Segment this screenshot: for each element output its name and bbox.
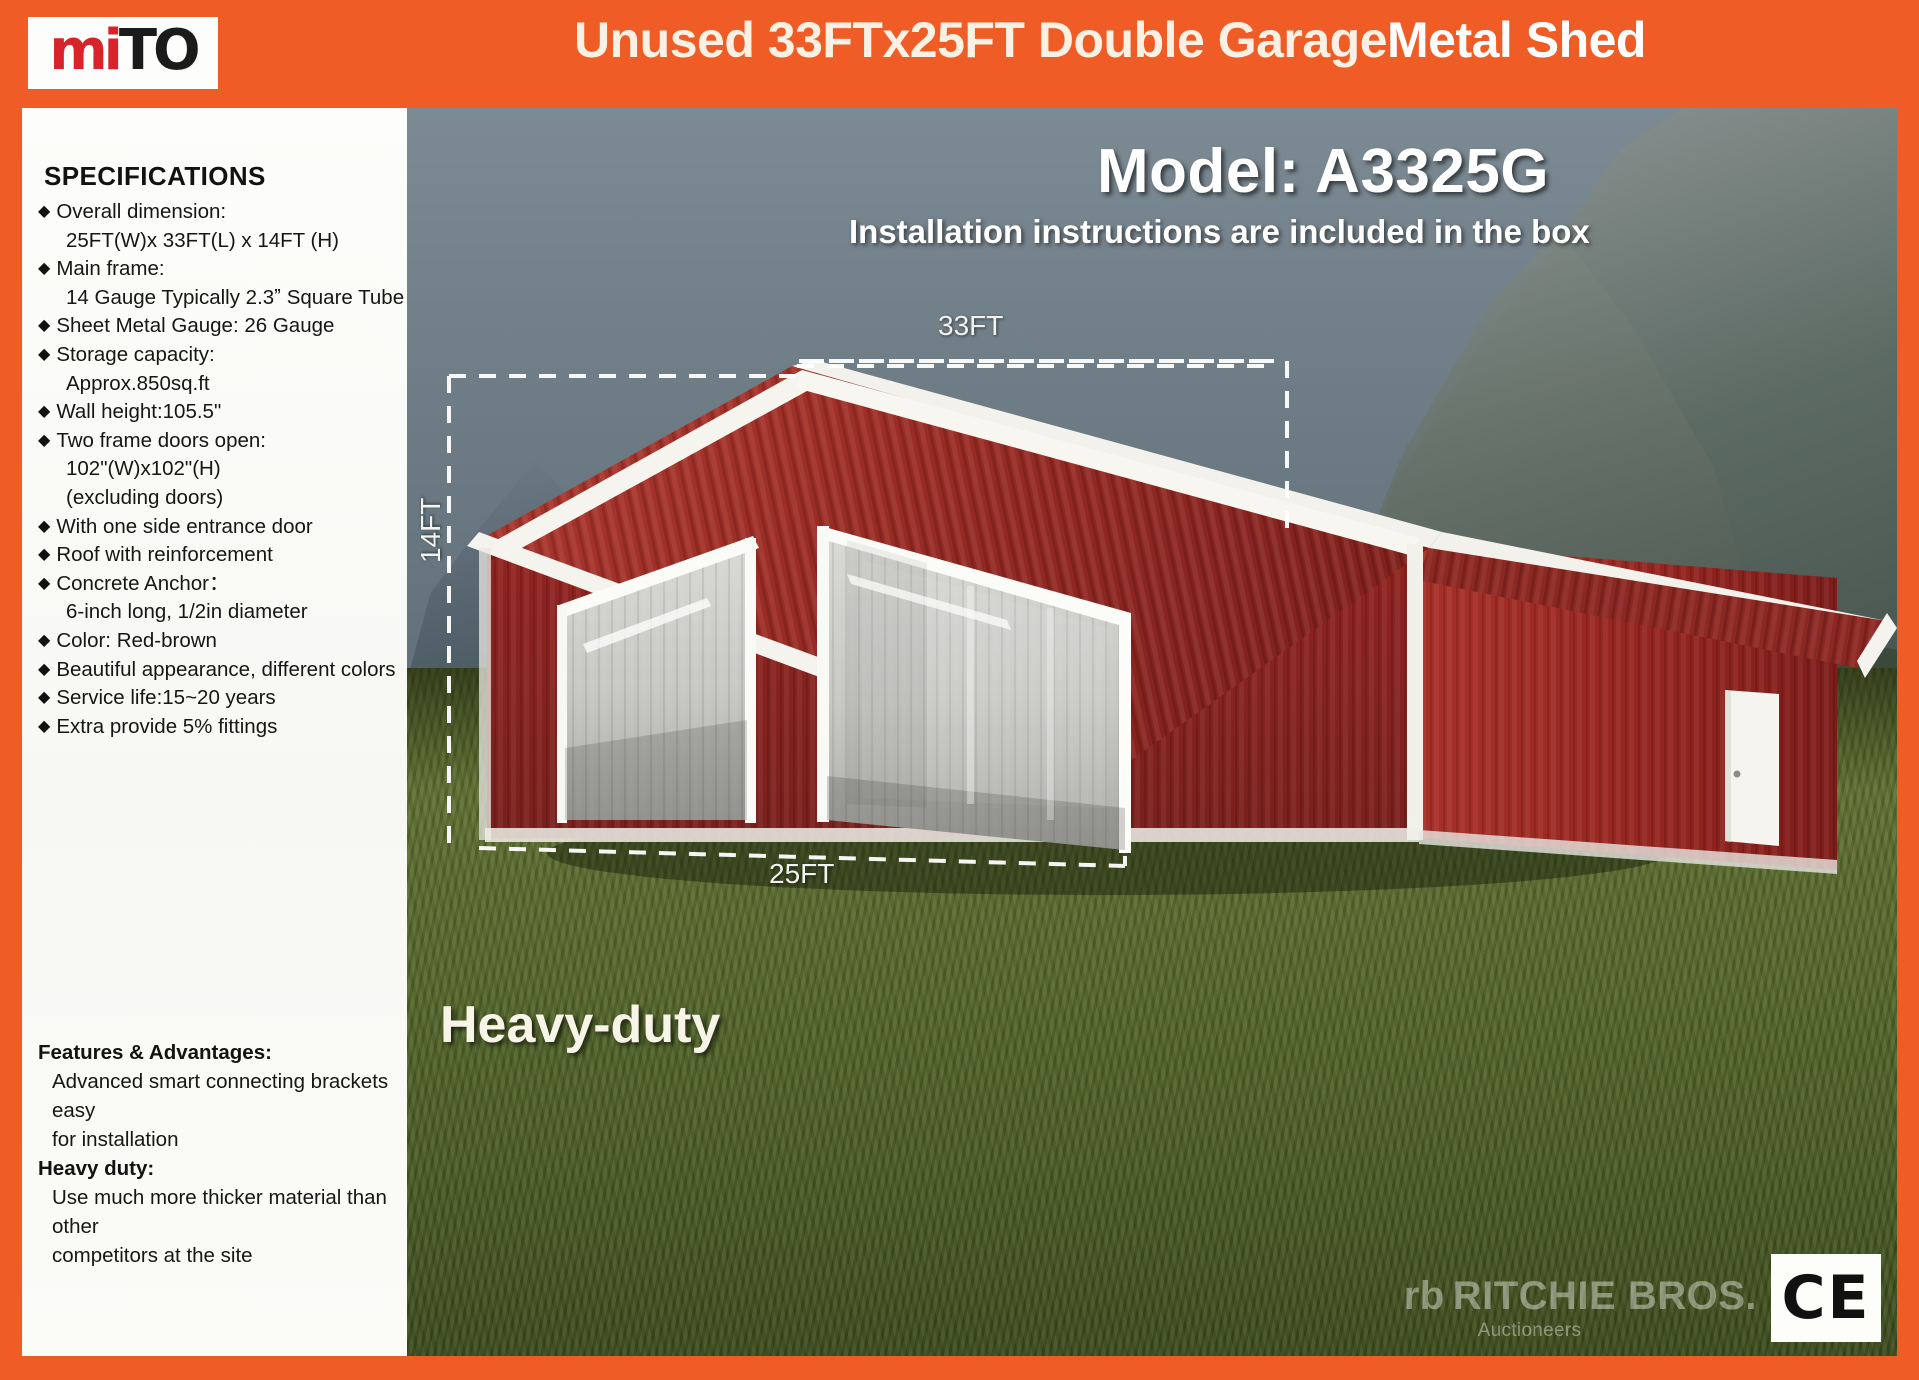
diamond-bullet-icon: ◆ bbox=[38, 656, 50, 685]
spec-item-sub: (excluding doors) bbox=[38, 484, 408, 513]
specifications-list: ◆Overall dimension: 25FT(W)x 33FT(L) x 1… bbox=[38, 198, 408, 741]
diamond-bullet-icon: ◆ bbox=[38, 255, 50, 284]
spec-item-sub: 6-inch long, 1/2in diameter bbox=[38, 598, 408, 627]
heavy-duty-callout: Heavy-duty bbox=[440, 995, 720, 1055]
diamond-bullet-icon: ◆ bbox=[38, 684, 50, 713]
spec-item: ◆Overall dimension: bbox=[38, 198, 408, 227]
spec-item: ◆Roof with reinforcement bbox=[38, 541, 408, 570]
mito-logo: miTO bbox=[28, 17, 218, 89]
diamond-bullet-icon: ◆ bbox=[38, 198, 50, 227]
spec-item-label: Wall height:105.5" bbox=[56, 398, 221, 427]
dimension-label-height: 14FT bbox=[415, 498, 447, 563]
dimension-guides bbox=[407, 108, 1897, 1356]
diamond-bullet-icon: ◆ bbox=[38, 341, 50, 370]
spec-item-sub: 25FT(W)x 33FT(L) x 14FT (H) bbox=[38, 227, 408, 256]
product-photo: 33FT 25FT 14FT Model: A3325G Installatio… bbox=[407, 108, 1897, 1356]
heavy-duty-heading: Heavy duty: bbox=[38, 1154, 412, 1183]
logo-text-right: TO bbox=[119, 18, 197, 83]
spec-item: ◆Color: Red-brown bbox=[38, 627, 408, 656]
spec-item-label: Sheet Metal Gauge: 26 Gauge bbox=[56, 312, 334, 341]
logo-wordmark: miTO bbox=[49, 23, 196, 79]
features-advantages-block: Features & Advantages: Advanced smart co… bbox=[38, 1038, 412, 1270]
rb-initials: rb bbox=[1404, 1276, 1445, 1316]
spec-item: ◆Main frame: bbox=[38, 255, 408, 284]
model-label: Model: A3325G bbox=[1097, 136, 1549, 207]
spec-item: ◆Storage capacity: bbox=[38, 341, 408, 370]
specifications-panel: SPECIFICATIONS ◆Overall dimension: 25FT(… bbox=[22, 108, 407, 1356]
diamond-bullet-icon: ◆ bbox=[38, 570, 50, 599]
installation-note: Installation instructions are included i… bbox=[849, 213, 1590, 251]
dimension-label-length: 33FT bbox=[938, 310, 1003, 342]
watermark-group: rb RITCHIE BROS. Auctioneers CE bbox=[1404, 1254, 1881, 1342]
features-line-2: for installation bbox=[38, 1125, 412, 1154]
features-line-1: Advanced smart connecting brackets easy bbox=[38, 1067, 412, 1125]
spec-item: ◆Beautiful appearance, different colors bbox=[38, 656, 408, 685]
heavy-duty-line-2: competitors at the site bbox=[38, 1241, 412, 1270]
diamond-bullet-icon: ◆ bbox=[38, 541, 50, 570]
spec-item-label: Main frame: bbox=[56, 255, 164, 284]
spec-item-label: Concrete Anchor： bbox=[56, 570, 229, 599]
spec-item-label: Two frame doors open: bbox=[56, 427, 266, 456]
spec-item-label: Storage capacity: bbox=[56, 341, 214, 370]
spec-item-sub: Approx.850sq.ft bbox=[38, 370, 408, 399]
spec-item: ◆Sheet Metal Gauge: 26 Gauge bbox=[38, 312, 408, 341]
ce-mark-icon: CE bbox=[1771, 1254, 1881, 1342]
diamond-bullet-icon: ◆ bbox=[38, 398, 50, 427]
spec-item-label: Service life:15~20 years bbox=[56, 684, 275, 713]
diamond-bullet-icon: ◆ bbox=[38, 427, 50, 456]
spec-item-label: Color: Red-brown bbox=[56, 627, 217, 656]
rb-subtitle: Auctioneers bbox=[1478, 1320, 1582, 1342]
spec-item-label: With one side entrance door bbox=[56, 513, 312, 542]
spec-item-label: Beautiful appearance, different colors bbox=[56, 656, 395, 685]
spec-item: ◆Extra provide 5% fittings bbox=[38, 713, 408, 742]
diamond-bullet-icon: ◆ bbox=[38, 513, 50, 542]
spec-item-label: Extra provide 5% fittings bbox=[56, 713, 277, 742]
title-part-1: Unused 33FTx25FT Double Garage bbox=[574, 12, 1387, 68]
ritchie-bros-watermark: rb RITCHIE BROS. Auctioneers bbox=[1404, 1276, 1757, 1342]
rb-wordmark-row: rb RITCHIE BROS. bbox=[1404, 1276, 1757, 1316]
spec-item-label: Roof with reinforcement bbox=[56, 541, 272, 570]
header-bar: miTO Unused 33FTx25FT Double GarageMetal… bbox=[0, 0, 1919, 108]
spec-item-label: Overall dimension: bbox=[56, 198, 226, 227]
logo-text-left: mi bbox=[49, 18, 119, 83]
product-advertisement-page: miTO Unused 33FTx25FT Double GarageMetal… bbox=[0, 0, 1919, 1380]
features-heading: Features & Advantages: bbox=[38, 1038, 412, 1067]
dimension-label-width: 25FT bbox=[769, 858, 834, 890]
page-title: Unused 33FTx25FT Double GarageMetal Shed bbox=[330, 14, 1890, 67]
heavy-duty-line-1: Use much more thicker material than othe… bbox=[38, 1183, 412, 1241]
diamond-bullet-icon: ◆ bbox=[38, 627, 50, 656]
diamond-bullet-icon: ◆ bbox=[38, 312, 50, 341]
spec-item: ◆Wall height:105.5" bbox=[38, 398, 408, 427]
spec-item: ◆Concrete Anchor： bbox=[38, 570, 408, 599]
title-part-2: Metal Shed bbox=[1387, 12, 1646, 68]
rb-name: RITCHIE BROS. bbox=[1453, 1276, 1757, 1316]
diamond-bullet-icon: ◆ bbox=[38, 713, 50, 742]
spec-item-sub: 102"(W)x102"(H) bbox=[38, 455, 408, 484]
specifications-heading: SPECIFICATIONS bbox=[44, 161, 266, 192]
spec-item: ◆Two frame doors open: bbox=[38, 427, 408, 456]
spec-item: ◆Service life:15~20 years bbox=[38, 684, 408, 713]
spec-item-sub: 14 Gauge Typically 2.3ˮ Square Tube bbox=[38, 284, 408, 313]
spec-item: ◆With one side entrance door bbox=[38, 513, 408, 542]
